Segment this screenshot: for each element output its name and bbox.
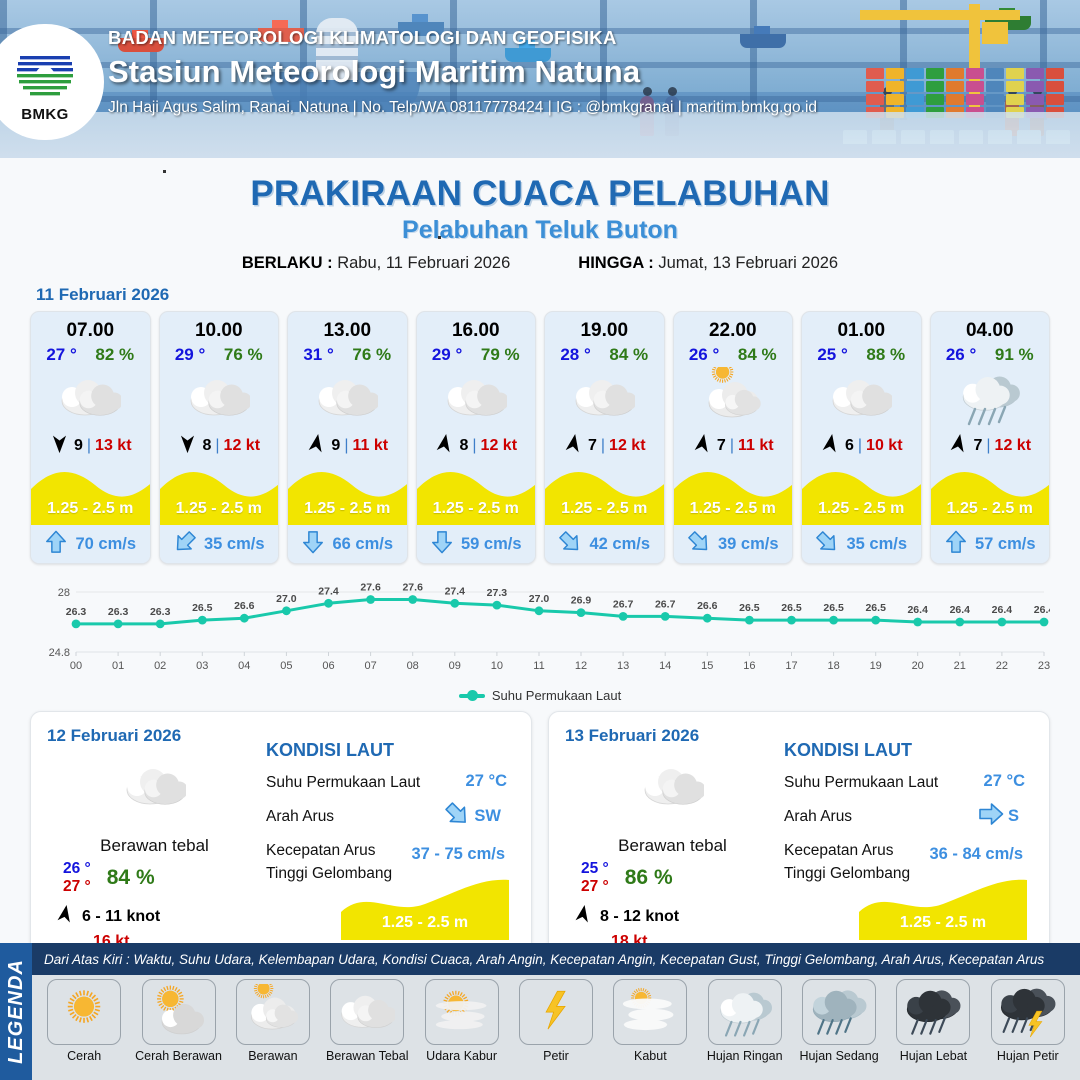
forecast-temperature: 26 ° <box>946 345 976 365</box>
berawan-tebal-icon <box>545 367 664 429</box>
bmkg-logo-label: BMKG <box>21 106 68 123</box>
wind-direction-arrow-icon <box>434 433 455 459</box>
current-direction-arrow-icon <box>687 530 711 559</box>
wind-separator: | <box>87 437 91 455</box>
wave-height-band: 1.25 - 2.5 m <box>545 463 664 525</box>
svg-text:23: 23 <box>1038 660 1050 672</box>
svg-text:26.3: 26.3 <box>150 606 171 618</box>
legend-item: Kabut <box>604 979 696 1063</box>
svg-text:26.6: 26.6 <box>234 600 255 612</box>
current-speed-value: 37 - 75 cm/s <box>411 845 505 864</box>
legend-note-bar: Dari Atas Kiri : Waktu, Suhu Udara, Kele… <box>32 943 1080 975</box>
legend-item-label: Hujan Lebat <box>900 1049 967 1063</box>
berawan-tebal-icon <box>288 367 407 429</box>
berawan-tebal-icon <box>417 367 536 429</box>
hujan-lebat-icon <box>896 979 970 1045</box>
current-direction-arrow-icon <box>978 801 1004 832</box>
svg-text:26.5: 26.5 <box>823 602 844 614</box>
svg-text:20: 20 <box>912 660 924 672</box>
current-speed-label: Kecepatan Arus <box>266 842 375 860</box>
legend-item-label: Berawan Tebal <box>326 1049 408 1063</box>
wave-height-value: 1.25 - 2.5 m <box>288 500 407 518</box>
banner-floor <box>0 112 1080 158</box>
forecast-time: 19.00 <box>545 320 664 342</box>
berawan-tebal-icon <box>802 367 921 429</box>
legend-item-label: Udara Kabur <box>426 1049 497 1063</box>
svg-text:26.5: 26.5 <box>865 602 886 614</box>
daily-summary-panel: 13 Februari 2026 Berawan tebal 25 ° 27 °… <box>548 711 1050 959</box>
legend-item: Berawan Tebal <box>321 979 413 1063</box>
wind-separator: | <box>215 437 219 455</box>
chart-legend-label: Suhu Permukaan Laut <box>492 688 621 703</box>
summary-wave-band: 1.25 - 2.5 m <box>859 878 1027 940</box>
station-name: Stasiun Meteorologi Maritim Natuna <box>108 54 817 90</box>
berawan-tebal-icon <box>565 756 780 818</box>
legend-item-label: Kabut <box>634 1049 667 1063</box>
forecast-time: 04.00 <box>931 320 1050 342</box>
forecast-time: 10.00 <box>160 320 279 342</box>
svg-text:10: 10 <box>491 660 503 672</box>
svg-text:26.5: 26.5 <box>192 602 213 614</box>
svg-text:13: 13 <box>617 660 629 672</box>
legend-item-label: Petir <box>543 1049 569 1063</box>
berawan-tebal-icon <box>330 979 404 1045</box>
wind-speed: 8 <box>202 437 211 455</box>
legend-item: Petir <box>510 979 602 1063</box>
wind-direction-arrow-icon <box>306 433 327 459</box>
forecast-temperature: 28 ° <box>560 345 590 365</box>
svg-text:06: 06 <box>322 660 334 672</box>
legend-item-label: Hujan Ringan <box>707 1049 783 1063</box>
svg-text:26.5: 26.5 <box>781 602 802 614</box>
valid-from-value: Rabu, 11 Februari 2026 <box>337 254 510 272</box>
svg-text:26.4: 26.4 <box>950 604 971 616</box>
page-title-block: PRAKIRAAN CUACA PELABUHAN Pelabuhan Telu… <box>0 174 1080 273</box>
svg-text:27.3: 27.3 <box>487 587 508 599</box>
current-speed-label: Kecepatan Arus <box>784 842 893 860</box>
wind-speed: 7 <box>973 437 982 455</box>
legend-item: Berawan <box>227 979 319 1063</box>
chart-legend: Suhu Permukaan Laut <box>0 688 1080 703</box>
svg-text:27.4: 27.4 <box>445 585 466 597</box>
berawan-tebal-icon <box>31 367 150 429</box>
wave-height-band: 1.25 - 2.5 m <box>288 463 407 525</box>
forecast-humidity: 84 % <box>738 345 777 365</box>
wind-gust: 12 kt <box>224 437 260 455</box>
svg-text:22: 22 <box>996 660 1008 672</box>
daily-summary-panel: 12 Februari 2026 Berawan tebal 26 ° 27 °… <box>30 711 532 959</box>
current-direction-arrow-icon <box>301 530 325 559</box>
wave-height-band: 1.25 - 2.5 m <box>160 463 279 525</box>
current-speed: 70 cm/s <box>75 535 136 554</box>
forecast-time: 07.00 <box>31 320 150 342</box>
sea-condition-title: KONDISI LAUT <box>784 740 1033 761</box>
svg-text:18: 18 <box>827 660 839 672</box>
wave-height-value: 1.25 - 2.5 m <box>674 500 793 518</box>
svg-text:26.4: 26.4 <box>992 604 1013 616</box>
wind-gust: 13 kt <box>95 437 131 455</box>
svg-text:26.9: 26.9 <box>571 595 592 607</box>
daily-summary-panels: 12 Februari 2026 Berawan tebal 26 ° 27 °… <box>0 703 1080 959</box>
summary-date: 12 Februari 2026 <box>47 726 262 746</box>
sea-condition-title: KONDISI LAUT <box>266 740 515 761</box>
svg-text:01: 01 <box>112 660 124 672</box>
current-speed: 42 cm/s <box>589 535 650 554</box>
forecast-humidity: 82 % <box>95 345 134 365</box>
summary-date: 13 Februari 2026 <box>565 726 780 746</box>
svg-text:11: 11 <box>533 660 544 672</box>
svg-text:26.3: 26.3 <box>108 606 129 618</box>
berawan-tebal-icon <box>47 756 262 818</box>
forecast-temperature: 26 ° <box>689 345 719 365</box>
wind-direction-arrow-icon <box>563 433 584 459</box>
svg-text:12: 12 <box>575 660 587 672</box>
legend-item: Udara Kabur <box>415 979 507 1063</box>
page-title: PRAKIRAAN CUACA PELABUHAN <box>0 174 1080 214</box>
sst-chart-svg: 2824.826.30026.30126.30226.50326.60427.0… <box>30 578 1050 686</box>
chart-legend-swatch <box>459 694 485 698</box>
forecast-date-label: 11 Februari 2026 <box>36 285 1080 305</box>
forecast-temperature: 29 ° <box>175 345 205 365</box>
summary-condition: Berawan tebal <box>565 836 780 856</box>
sst-value: 27 °C <box>466 772 507 791</box>
current-direction-value: S <box>1008 807 1019 826</box>
forecast-card: 22.00 26 ° 84 % 7 | 11 kt <box>673 311 794 564</box>
svg-text:15: 15 <box>701 660 713 672</box>
svg-text:14: 14 <box>659 660 671 672</box>
wave-height-band: 1.25 - 2.5 m <box>931 463 1050 525</box>
svg-text:07: 07 <box>364 660 376 672</box>
sst-label: Suhu Permukaan Laut <box>266 774 420 792</box>
wind-separator: | <box>730 437 734 455</box>
wind-speed: 6 <box>845 437 854 455</box>
svg-text:26.6: 26.6 <box>697 600 718 612</box>
forecast-temperature: 29 ° <box>432 345 462 365</box>
wave-height-band: 1.25 - 2.5 m <box>417 463 536 525</box>
legend-item-label: Hujan Sedang <box>799 1049 878 1063</box>
svg-text:27.4: 27.4 <box>318 585 339 597</box>
current-speed: 66 cm/s <box>332 535 393 554</box>
wind-direction-arrow-icon <box>55 904 75 929</box>
forecast-temperature: 27 ° <box>46 345 76 365</box>
summary-wave-band: 1.25 - 2.5 m <box>341 878 509 940</box>
wind-speed: 8 <box>459 437 468 455</box>
wave-height-value: 1.25 - 2.5 m <box>802 500 921 518</box>
current-speed: 35 cm/s <box>846 535 907 554</box>
wind-speed: 9 <box>74 437 83 455</box>
decorative-dot-2 <box>438 236 441 239</box>
svg-text:26.7: 26.7 <box>655 598 676 610</box>
summary-humidity: 84 % <box>107 866 155 890</box>
summary-wave-value: 1.25 - 2.5 m <box>341 914 509 932</box>
svg-text:03: 03 <box>196 660 208 672</box>
wave-height-band: 1.25 - 2.5 m <box>31 463 150 525</box>
forecast-card: 07.00 27 ° 82 % 9 | 13 kt <box>30 311 151 564</box>
legend-item-label: Berawan <box>248 1049 297 1063</box>
hujan-petir-icon <box>991 979 1065 1045</box>
current-speed: 57 cm/s <box>975 535 1036 554</box>
wind-separator: | <box>472 437 476 455</box>
svg-text:27.6: 27.6 <box>360 582 381 594</box>
legend-note: Dari Atas Kiri : Waktu, Suhu Udara, Kele… <box>44 952 1044 967</box>
current-direction-value: SW <box>474 807 501 826</box>
svg-text:28: 28 <box>58 587 70 599</box>
cerah-icon <box>47 979 121 1045</box>
current-direction-arrow-icon <box>173 530 197 559</box>
berawan-tebal-icon <box>160 367 279 429</box>
summary-temp-max: 27 ° <box>63 878 91 896</box>
svg-text:26.3: 26.3 <box>66 606 87 618</box>
wind-direction-arrow-icon <box>820 433 841 459</box>
current-direction-arrow-icon <box>44 530 68 559</box>
forecast-humidity: 76 % <box>224 345 263 365</box>
sst-value: 27 °C <box>984 772 1025 791</box>
forecast-card: 13.00 31 ° 76 % 9 | 11 kt <box>287 311 408 564</box>
svg-text:27.0: 27.0 <box>529 593 550 605</box>
forecast-time: 16.00 <box>417 320 536 342</box>
wind-gust: 10 kt <box>866 437 902 455</box>
svg-text:26.4: 26.4 <box>1034 604 1050 616</box>
hujan-ringan-icon <box>708 979 782 1045</box>
wind-speed: 7 <box>588 437 597 455</box>
contact-info: Jln Haji Agus Salim, Ranai, Natuna | No.… <box>108 99 817 117</box>
svg-text:09: 09 <box>449 660 461 672</box>
forecast-card: 01.00 25 ° 88 % 6 | 10 kt <box>801 311 922 564</box>
legend-item: Cerah <box>38 979 130 1063</box>
summary-wave-value: 1.25 - 2.5 m <box>859 914 1027 932</box>
svg-text:17: 17 <box>785 660 797 672</box>
wind-direction-arrow-icon <box>573 904 593 929</box>
wind-gust: 12 kt <box>609 437 645 455</box>
legend-item-label: Cerah Berawan <box>135 1049 222 1063</box>
svg-text:19: 19 <box>870 660 882 672</box>
page-subtitle: Pelabuhan Teluk Buton <box>0 216 1080 245</box>
wind-separator: | <box>986 437 990 455</box>
valid-to-value: Jumat, 13 Februari 2026 <box>658 254 838 272</box>
current-speed: 35 cm/s <box>204 535 265 554</box>
decorative-dot <box>163 170 166 173</box>
summary-wind-range: 8 - 12 knot <box>600 908 679 926</box>
agency-name: BADAN METEOROLOGI KLIMATOLOGI DAN GEOFIS… <box>108 27 817 49</box>
svg-text:26.4: 26.4 <box>907 604 928 616</box>
wave-height-band: 1.25 - 2.5 m <box>674 463 793 525</box>
forecast-card: 04.00 26 ° 91 % 7 | <box>930 311 1051 564</box>
svg-text:27.0: 27.0 <box>276 593 297 605</box>
current-direction-label: Arah Arus <box>266 808 334 826</box>
legend-item: Hujan Ringan <box>699 979 791 1063</box>
banner-containers <box>866 46 1076 118</box>
current-direction-arrow-icon <box>558 530 582 559</box>
svg-text:26.5: 26.5 <box>739 602 760 614</box>
svg-text:08: 08 <box>407 660 419 672</box>
wind-separator: | <box>858 437 862 455</box>
svg-text:24.8: 24.8 <box>49 647 70 659</box>
legend-item: Hujan Sedang <box>793 979 885 1063</box>
forecast-humidity: 91 % <box>995 345 1034 365</box>
legend-side-label: LEGENDA <box>0 943 32 1080</box>
valid-to-label: HINGGA : <box>578 254 653 272</box>
forecast-card: 19.00 28 ° 84 % 7 | 12 kt <box>544 311 665 564</box>
forecast-time: 22.00 <box>674 320 793 342</box>
hujan-sedang-icon <box>802 979 876 1045</box>
wind-separator: | <box>344 437 348 455</box>
summary-temp-min: 26 ° <box>63 860 91 878</box>
current-speed: 39 cm/s <box>718 535 779 554</box>
sst-chart: 2824.826.30026.30126.30226.50326.60427.0… <box>30 578 1050 686</box>
summary-temp-max: 27 ° <box>581 878 609 896</box>
forecast-card: 16.00 29 ° 79 % 8 | 12 kt <box>416 311 537 564</box>
valid-to: HINGGA : Jumat, 13 Februari 2026 <box>578 254 838 273</box>
berawan-icon <box>674 367 793 429</box>
forecast-card-list: 07.00 27 ° 82 % 9 | 13 kt <box>0 311 1080 564</box>
svg-text:04: 04 <box>238 660 250 672</box>
kabut-icon <box>613 979 687 1045</box>
petir-icon <box>519 979 593 1045</box>
forecast-time: 13.00 <box>288 320 407 342</box>
current-direction-label: Arah Arus <box>784 808 852 826</box>
svg-text:27.6: 27.6 <box>402 582 423 594</box>
current-direction-arrow-icon <box>815 530 839 559</box>
current-direction-arrow-icon <box>944 530 968 559</box>
valid-from-label: BERLAKU : <box>242 254 333 272</box>
legend-item-label: Cerah <box>67 1049 101 1063</box>
svg-text:00: 00 <box>70 660 82 672</box>
forecast-card: 10.00 29 ° 76 % 8 | 12 kt <box>159 311 280 564</box>
svg-text:05: 05 <box>280 660 292 672</box>
wind-direction-arrow-icon <box>177 433 198 459</box>
current-direction-arrow-icon <box>444 801 470 832</box>
svg-text:16: 16 <box>743 660 755 672</box>
wave-height-value: 1.25 - 2.5 m <box>31 500 150 518</box>
summary-condition: Berawan tebal <box>47 836 262 856</box>
wave-height-value: 1.25 - 2.5 m <box>160 500 279 518</box>
valid-from: BERLAKU : Rabu, 11 Februari 2026 <box>242 254 510 273</box>
berawan-icon <box>236 979 310 1045</box>
wind-gust: 12 kt <box>995 437 1031 455</box>
svg-text:26.7: 26.7 <box>613 598 634 610</box>
forecast-humidity: 84 % <box>609 345 648 365</box>
validity-row: BERLAKU : Rabu, 11 Februari 2026 HINGGA … <box>0 254 1080 273</box>
svg-text:02: 02 <box>154 660 166 672</box>
wind-gust: 11 kt <box>352 437 388 455</box>
wind-speed: 9 <box>331 437 340 455</box>
summary-temp-min: 25 ° <box>581 860 609 878</box>
current-direction-arrow-icon <box>430 530 454 559</box>
wind-direction-arrow-icon <box>948 433 969 459</box>
wave-height-value: 1.25 - 2.5 m <box>931 500 1050 518</box>
forecast-temperature: 25 ° <box>817 345 847 365</box>
forecast-humidity: 88 % <box>866 345 905 365</box>
wind-gust: 11 kt <box>738 437 774 455</box>
cerah-berawan-icon <box>142 979 216 1045</box>
current-speed-value: 36 - 84 cm/s <box>929 845 1023 864</box>
wind-separator: | <box>601 437 605 455</box>
legend-icon-list: Cerah Cerah Berawan Berawan <box>32 975 1080 1080</box>
wind-speed: 7 <box>717 437 726 455</box>
forecast-humidity: 79 % <box>481 345 520 365</box>
summary-humidity: 86 % <box>625 866 673 890</box>
hujan-ringan-icon <box>931 367 1050 429</box>
legend-item: Hujan Petir <box>982 979 1074 1063</box>
forecast-temperature: 31 ° <box>303 345 333 365</box>
bmkg-logo-mark <box>14 42 76 104</box>
udara-kabur-icon <box>425 979 499 1045</box>
wind-gust: 12 kt <box>481 437 517 455</box>
summary-wind-range: 6 - 11 knot <box>82 908 160 926</box>
legend-item-label: Hujan Petir <box>997 1049 1059 1063</box>
wave-height-value: 1.25 - 2.5 m <box>545 500 664 518</box>
wave-height-band: 1.25 - 2.5 m <box>802 463 921 525</box>
sst-label: Suhu Permukaan Laut <box>784 774 938 792</box>
legend-item: Cerah Berawan <box>132 979 224 1063</box>
legend-item: Hujan Lebat <box>887 979 979 1063</box>
wind-direction-arrow-icon <box>49 433 70 459</box>
legend-bar: LEGENDA Dari Atas Kiri : Waktu, Suhu Uda… <box>0 943 1080 1080</box>
svg-text:21: 21 <box>954 660 966 672</box>
wind-direction-arrow-icon <box>692 433 713 459</box>
current-speed: 59 cm/s <box>461 535 522 554</box>
wave-height-value: 1.25 - 2.5 m <box>417 500 536 518</box>
forecast-time: 01.00 <box>802 320 921 342</box>
forecast-humidity: 76 % <box>352 345 391 365</box>
header-banner: BMKG BADAN METEOROLOGI KLIMATOLOGI DAN G… <box>0 0 1080 158</box>
